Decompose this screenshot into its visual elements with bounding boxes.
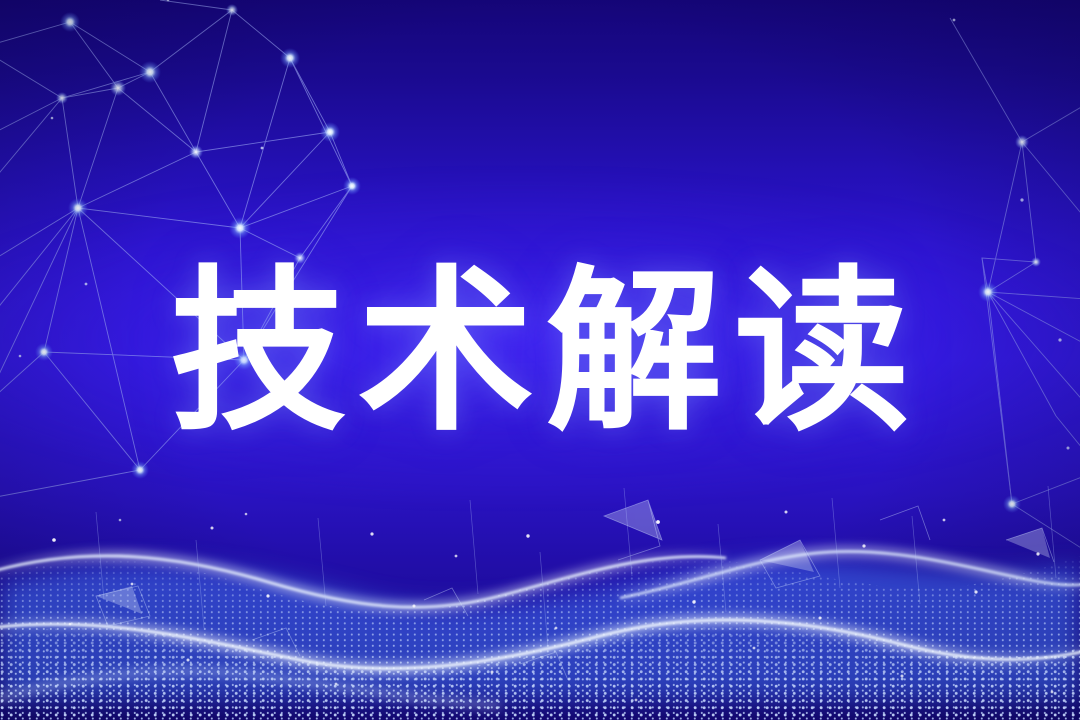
poster-canvas: 技术解读 <box>0 0 1080 720</box>
wave-dot-band-near <box>0 600 1080 720</box>
particle-wave-field <box>0 0 1080 720</box>
